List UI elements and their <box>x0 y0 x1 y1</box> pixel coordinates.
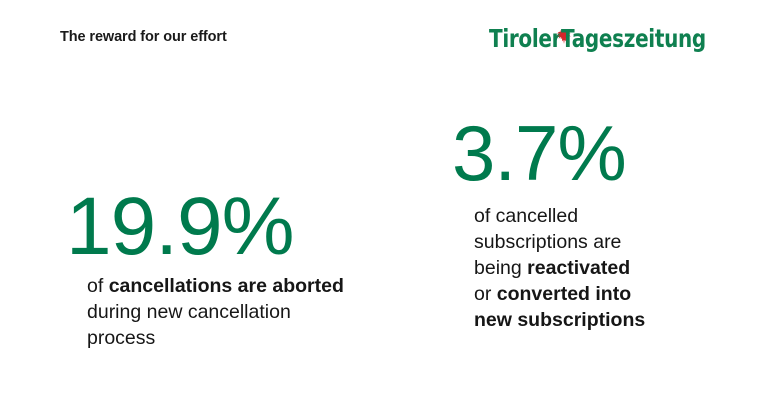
caption-line: new subscriptions <box>474 308 738 334</box>
caption-line: being reactivated <box>474 256 738 282</box>
caption-text: during new cancellation <box>87 301 291 323</box>
brand-word-tiroler: Tiroler <box>489 26 561 51</box>
brand-logo: Tiroler Tageszeitung <box>489 24 742 52</box>
caption-line: during new cancellation <box>87 300 430 326</box>
brand-word-tageszeitung: Tageszeitung <box>561 26 706 51</box>
caption-line: of cancelled <box>474 204 738 230</box>
caption-text: subscriptions are <box>474 231 621 253</box>
caption-bold-text: reactivated <box>527 257 630 279</box>
stat-value: 3.7% <box>452 114 738 192</box>
caption-bold-text: cancellations are aborted <box>109 275 344 297</box>
caption-text: being <box>474 257 527 279</box>
stat-value: 19.9% <box>66 186 430 268</box>
stat-caption: of cancelled subscriptions are being rea… <box>474 204 738 334</box>
caption-text: process <box>87 327 155 349</box>
caption-line: process <box>87 326 430 352</box>
caption-text: of <box>87 275 109 297</box>
caption-bold-text: new subscriptions <box>474 309 645 331</box>
caption-text: or <box>474 283 497 305</box>
stat-block-cancellations-aborted: 19.9% of cancellations are aborted durin… <box>60 186 430 352</box>
stat-caption: of cancellations are aborted during new … <box>87 274 430 352</box>
caption-line: subscriptions are <box>474 230 738 256</box>
stat-block-reactivated-subscriptions: 3.7% of cancelled subscriptions are bein… <box>448 114 738 334</box>
caption-bold-text: converted into <box>497 283 631 305</box>
slide-canvas: The reward for our effort Tiroler Tagesz… <box>0 0 760 410</box>
caption-text: of cancelled <box>474 205 578 227</box>
caption-line: or converted into <box>474 282 738 308</box>
page-title: The reward for our effort <box>60 29 227 45</box>
caption-line: of cancellations are aborted <box>87 274 430 300</box>
